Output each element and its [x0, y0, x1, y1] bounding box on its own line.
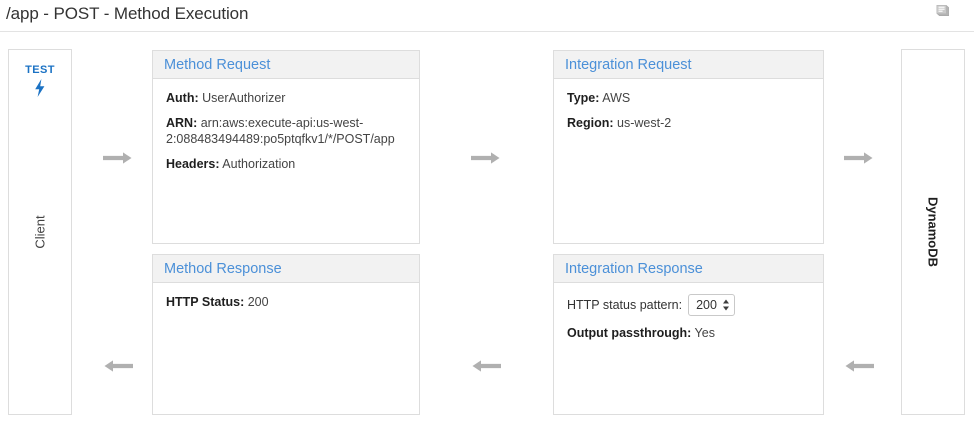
lightning-bolt-icon: [32, 78, 48, 103]
backend-column: DynamoDB: [901, 49, 965, 415]
method-request-auth-row: Auth: UserAuthorizer: [166, 90, 408, 106]
panel-method-request: Method Request Auth: UserAuthorizer ARN:…: [152, 50, 420, 244]
panel-integration-response-title: Integration Response: [565, 261, 703, 277]
arrow-method-response-to-client: [101, 358, 135, 378]
panel-integration-request-body: Type: AWS Region: us-west-2: [554, 79, 823, 141]
client-label: Client: [33, 215, 48, 248]
panel-integration-response: Integration Response HTTP status pattern…: [553, 254, 824, 415]
integration-request-type-key: Type:: [567, 91, 599, 105]
arrow-right-icon: [101, 151, 135, 170]
panel-integration-response-header[interactable]: Integration Response: [554, 255, 823, 283]
integration-response-passthrough-key: Output passthrough:: [567, 326, 691, 340]
integration-response-passthrough-row: Output passthrough: Yes: [567, 325, 812, 341]
integration-request-region-key: Region:: [567, 116, 614, 130]
method-execution-diagram: TEST Client Method Request Auth: UserAut…: [0, 32, 974, 424]
panel-method-response-body: HTTP Status: 200: [153, 283, 419, 320]
panel-integration-request: Integration Request Type: AWS Region: us…: [553, 50, 824, 244]
arrow-left-icon: [842, 359, 876, 378]
method-request-headers-value: Authorization: [222, 157, 295, 171]
page-title: /app - POST - Method Execution: [6, 4, 248, 24]
panel-integration-request-title: Integration Request: [565, 57, 692, 73]
panel-method-request-title: Method Request: [164, 57, 270, 73]
arrow-integration-request-to-backend: [842, 150, 876, 170]
integration-request-type-value: AWS: [602, 91, 630, 105]
method-request-arn-key: ARN:: [166, 116, 197, 130]
method-request-arn-value: arn:aws:execute-api:us-west-2:0884834944…: [166, 116, 395, 146]
panel-integration-response-body: HTTP status pattern: 200 Output passthro…: [554, 283, 823, 351]
method-request-auth-key: Auth:: [166, 91, 199, 105]
arrow-integration-response-to-method-response: [469, 358, 503, 378]
integration-response-status-pattern-label: HTTP status pattern:: [567, 298, 682, 312]
arrow-backend-to-integration-response: [842, 358, 876, 378]
integration-response-status-pattern-row: HTTP status pattern: 200: [567, 294, 812, 316]
method-request-arn-row: ARN: arn:aws:execute-api:us-west-2:08848…: [166, 115, 408, 147]
integration-request-region-row: Region: us-west-2: [567, 115, 812, 131]
status-pattern-select-wrap: 200: [688, 294, 735, 316]
method-response-status-key: HTTP Status:: [166, 295, 244, 309]
method-request-headers-row: Headers: Authorization: [166, 156, 408, 172]
test-button[interactable]: TEST: [9, 64, 71, 103]
arrow-client-to-method-request: [101, 150, 135, 170]
documentation-button[interactable]: [930, 1, 956, 27]
arrow-right-icon: [469, 151, 503, 170]
client-column: TEST Client: [8, 49, 72, 415]
method-response-status-row: HTTP Status: 200: [166, 294, 408, 310]
arrow-right-icon: [842, 151, 876, 170]
panel-method-response-title: Method Response: [164, 261, 282, 277]
integration-response-passthrough-value: Yes: [695, 326, 715, 340]
arrow-left-icon: [469, 359, 503, 378]
arrow-method-request-to-integration-request: [469, 150, 503, 170]
book-icon: [933, 2, 953, 27]
method-response-status-value: 200: [248, 295, 269, 309]
method-request-headers-key: Headers:: [166, 157, 220, 171]
panel-integration-request-header[interactable]: Integration Request: [554, 51, 823, 79]
test-label: TEST: [25, 64, 55, 76]
panel-method-response-header[interactable]: Method Response: [153, 255, 419, 283]
panel-method-request-body: Auth: UserAuthorizer ARN: arn:aws:execut…: [153, 79, 419, 182]
panel-method-request-header[interactable]: Method Request: [153, 51, 419, 79]
method-request-auth-value: UserAuthorizer: [202, 91, 285, 105]
status-pattern-select[interactable]: 200: [688, 294, 735, 316]
arrow-left-icon: [101, 359, 135, 378]
integration-request-type-row: Type: AWS: [567, 90, 812, 106]
page-header: /app - POST - Method Execution: [0, 0, 974, 32]
backend-label: DynamoDB: [926, 197, 941, 267]
panel-method-response: Method Response HTTP Status: 200: [152, 254, 420, 415]
integration-request-region-value: us-west-2: [617, 116, 671, 130]
